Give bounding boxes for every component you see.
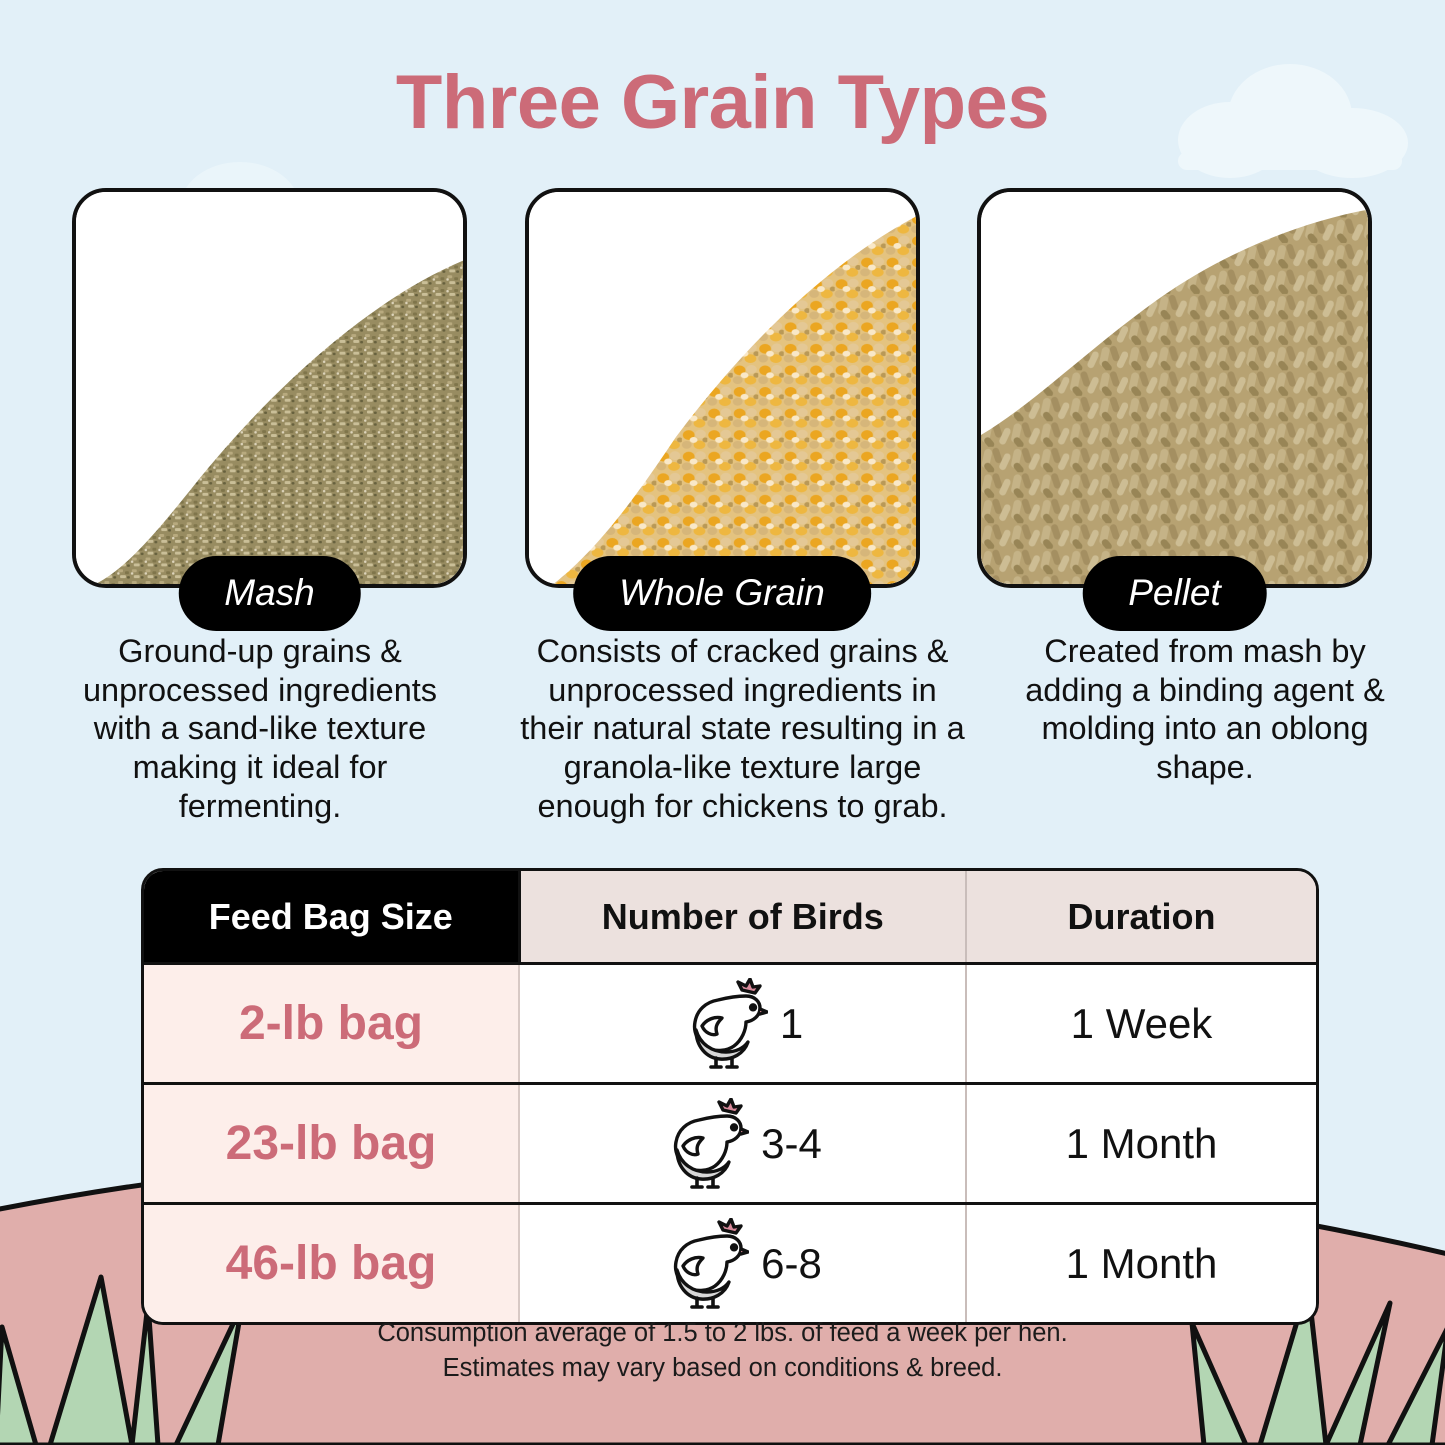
cell-bag-size: 46-lb bag xyxy=(144,1204,519,1323)
feed-bag-table: Feed Bag Size Number of Birds Duration 2… xyxy=(141,868,1319,1325)
whole-grain-photo xyxy=(525,188,920,588)
chicken-icon xyxy=(663,1218,749,1310)
cell-number-of-birds: 3-4 xyxy=(519,1084,966,1204)
chicken-icon xyxy=(663,1098,749,1190)
birds-count: 1 xyxy=(780,1000,803,1048)
grain-description-pellet: Created from mash by adding a binding ag… xyxy=(1025,632,1385,825)
grain-type-label: Mash xyxy=(178,556,360,631)
table-row: 23-lb bag xyxy=(144,1084,1316,1204)
chicken-icon xyxy=(682,978,768,1070)
table-row: 46-lb bag xyxy=(144,1204,1316,1323)
grain-type-card-whole-grain[interactable]: Whole Grain xyxy=(525,188,920,588)
footnote-line-1: Consumption average of 1.5 to 2 lbs. of … xyxy=(0,1316,1445,1351)
cell-number-of-birds: 6-8 xyxy=(519,1204,966,1323)
page-title: Three Grain Types xyxy=(0,63,1445,143)
cell-duration: 1 Month xyxy=(966,1204,1316,1323)
column-header-number-of-birds: Number of Birds xyxy=(519,871,966,964)
grain-type-label: Pellet xyxy=(1082,556,1267,631)
grain-description-mash: Ground-up grains & unprocessed ingredien… xyxy=(60,632,460,825)
cell-bag-size: 23-lb bag xyxy=(144,1084,519,1204)
footnote-line-2: Estimates may vary based on conditions &… xyxy=(0,1351,1445,1386)
grain-type-card-pellet[interactable]: Pellet xyxy=(977,188,1372,588)
column-header-duration: Duration xyxy=(966,871,1316,964)
grain-type-card-mash[interactable]: Mash xyxy=(72,188,467,588)
column-header-feed-bag-size: Feed Bag Size xyxy=(144,871,519,964)
cell-number-of-birds: 1 xyxy=(519,964,966,1084)
cell-duration: 1 Week xyxy=(966,964,1316,1084)
birds-count: 6-8 xyxy=(761,1240,822,1288)
mash-grain-photo xyxy=(72,188,467,588)
birds-count: 3-4 xyxy=(761,1120,822,1168)
grain-description-list: Ground-up grains & unprocessed ingredien… xyxy=(60,632,1385,825)
infographic-canvas: Three Grain Types xyxy=(0,0,1445,1445)
cell-bag-size: 2-lb bag xyxy=(144,964,519,1084)
table-header-row: Feed Bag Size Number of Birds Duration xyxy=(144,871,1316,964)
grain-description-whole-grain: Consists of cracked grains & unprocessed… xyxy=(513,632,973,825)
grain-type-label: Whole Grain xyxy=(573,556,871,631)
pellet-photo xyxy=(977,188,1372,588)
grain-type-card-list: Mash xyxy=(72,188,1372,588)
footnote: Consumption average of 1.5 to 2 lbs. of … xyxy=(0,1316,1445,1386)
table-row: 2-lb bag xyxy=(144,964,1316,1084)
cell-duration: 1 Month xyxy=(966,1084,1316,1204)
